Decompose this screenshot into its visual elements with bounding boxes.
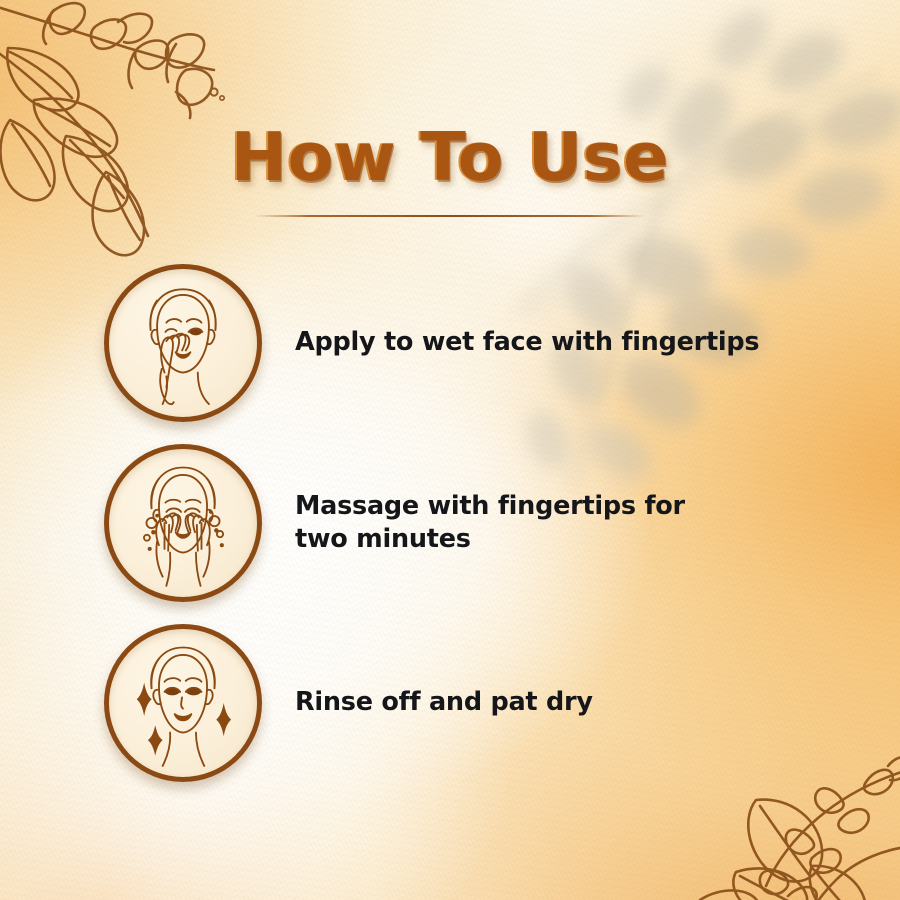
how-to-use-poster: How To Use bbox=[0, 0, 900, 900]
list-item: Massage with fingertips for two minutes bbox=[104, 442, 844, 604]
page-title: How To Use bbox=[0, 122, 900, 193]
list-item-label: Rinse off and pat dry bbox=[295, 686, 593, 719]
header: How To Use bbox=[0, 122, 900, 217]
title-divider bbox=[254, 215, 646, 217]
list-item: Rinse off and pat dry bbox=[104, 622, 844, 784]
list-item: Apply to wet face with fingertips bbox=[104, 262, 844, 424]
steps-list: Apply to wet face with fingertips bbox=[104, 262, 844, 802]
list-item-label: Massage with fingertips for two minutes bbox=[295, 490, 685, 556]
face-clean-glow-sparkle-icon bbox=[104, 624, 262, 782]
face-massage-two-hands-icon bbox=[104, 444, 262, 602]
face-apply-with-fingertips-icon bbox=[104, 264, 262, 422]
list-item-label: Apply to wet face with fingertips bbox=[295, 326, 759, 359]
